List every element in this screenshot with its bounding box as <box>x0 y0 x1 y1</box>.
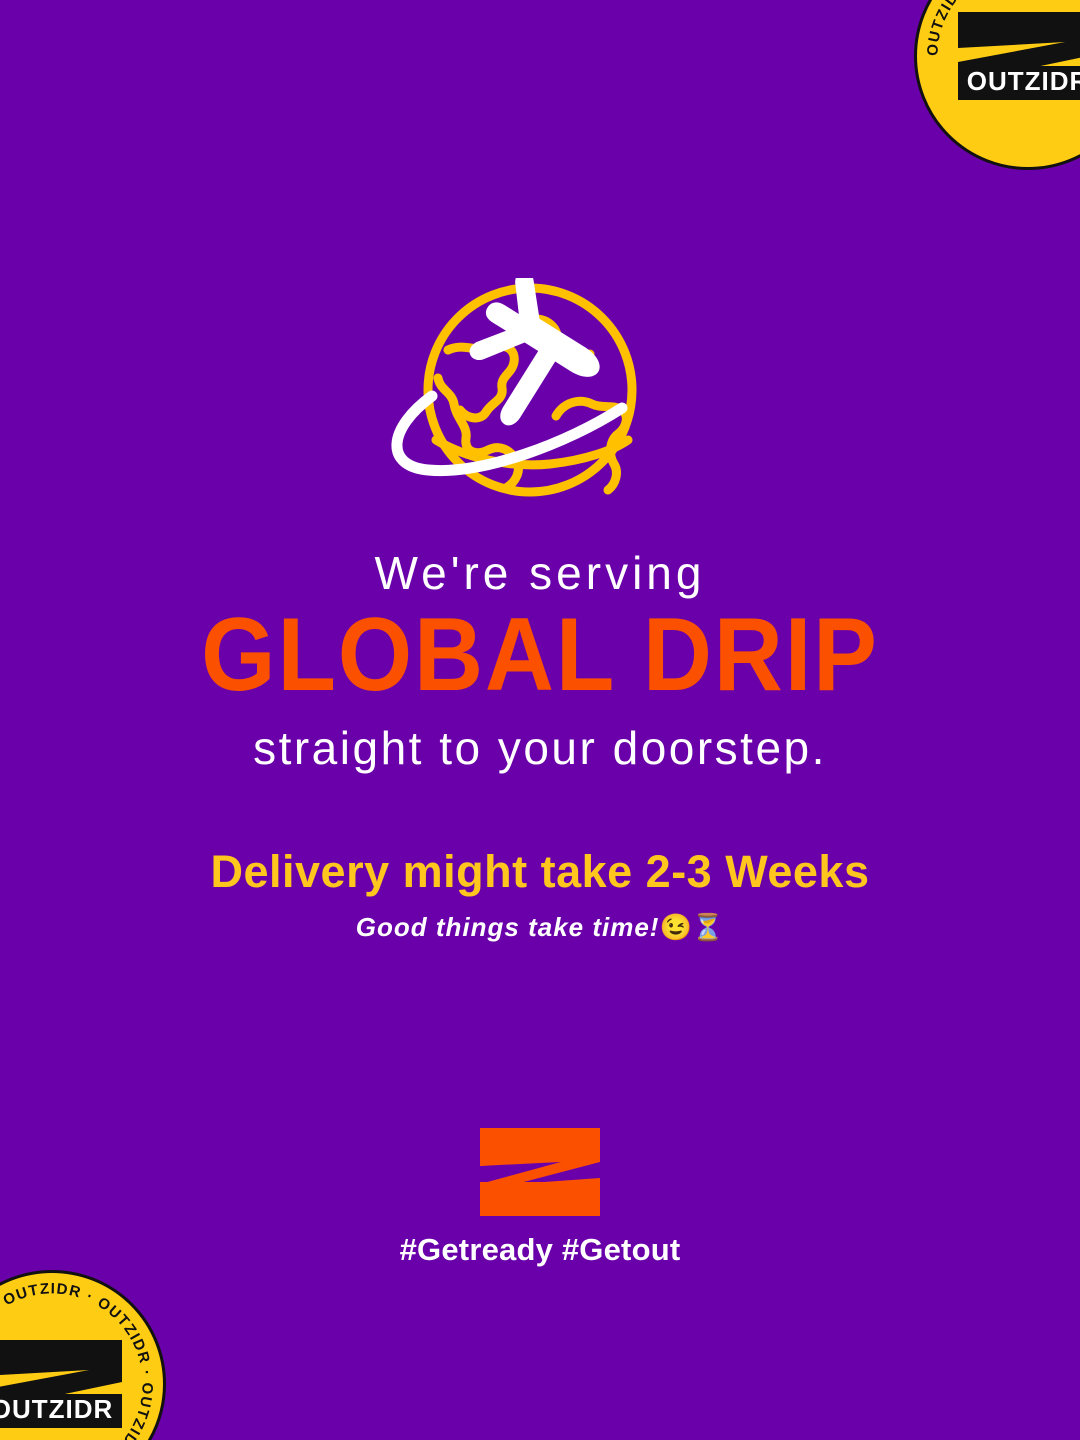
reassurance-text: Good things take time! <box>356 912 660 942</box>
badge-z-logo-icon: OUTZIDR <box>953 8 1080 104</box>
badge-z-logo-icon: OUTZIDR <box>0 1336 127 1432</box>
badge-core-wordmark: OUTZIDR <box>967 66 1080 96</box>
badge-core-bottom-left: OUTZIDR <box>0 1336 127 1432</box>
footer-block: #Getready #Getout <box>0 1126 1080 1268</box>
badge-core-top-right: OUTZIDR <box>953 8 1080 104</box>
globe-with-airplane-icon <box>370 278 710 508</box>
subline-text: straight to your doorstep. <box>0 721 1080 776</box>
badge-core-wordmark: OUTZIDR <box>0 1394 113 1424</box>
delivery-note-text: Delivery might take 2-3 Weeks <box>0 846 1080 898</box>
badge-outzidr-top-right: OUTZIDR · OUTZIDR · OUTZIDR · OUTZIDR · … <box>914 0 1080 170</box>
eyebrow-text: We're serving <box>0 548 1080 599</box>
globe-airplane-svg <box>370 278 710 508</box>
outzidr-z-logo-icon <box>476 1126 604 1218</box>
hashtags-text: #Getready #Getout <box>0 1232 1080 1268</box>
wink-hourglass-emoji: 😉⏳ <box>659 912 724 942</box>
copy-block: We're serving GLOBAL DRIP straight to yo… <box>0 548 1080 943</box>
promo-poster: OUTZIDR · OUTZIDR · OUTZIDR · OUTZIDR · … <box>0 0 1080 1440</box>
headline-text: GLOBAL DRIP <box>43 603 1037 707</box>
badge-outzidr-bottom-left: OUTZIDR · OUTZIDR · OUTZIDR · OUTZIDR · … <box>0 1270 166 1440</box>
reassurance-line: Good things take time!😉⏳ <box>0 912 1080 943</box>
